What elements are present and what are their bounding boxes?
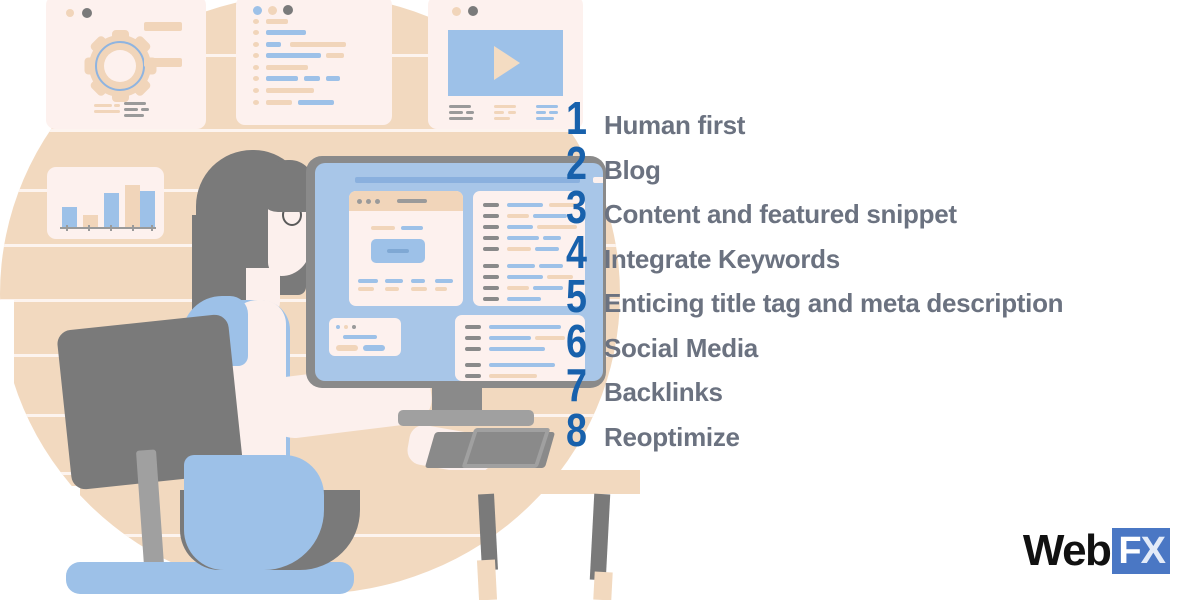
list-item[interactable]: 4 Integrate Keywords <box>566 230 1186 275</box>
logo-fx-x: X <box>1141 531 1165 571</box>
gear-icon <box>90 36 150 96</box>
code-line <box>507 297 541 301</box>
logo-fx-f: F <box>1118 531 1140 571</box>
code-label <box>483 264 499 268</box>
code-bullet <box>253 65 259 70</box>
card-line <box>114 104 120 107</box>
card-bar <box>144 58 182 67</box>
monitor-stand-base <box>398 410 534 426</box>
panel-line <box>435 287 447 291</box>
code-line <box>507 214 529 218</box>
code-line <box>533 286 563 290</box>
list-item-label: Content and featured snippet <box>604 199 957 229</box>
logo-fx-badge: FX <box>1112 528 1170 574</box>
code-line <box>507 286 529 290</box>
desk-leg <box>590 494 610 581</box>
window-dot-icon <box>375 199 380 204</box>
code-label <box>483 214 499 218</box>
code-line <box>507 203 543 207</box>
monitor-screen <box>315 163 603 381</box>
code-line <box>507 236 539 240</box>
list-item[interactable]: 7 Backlinks <box>566 363 1186 408</box>
code-line <box>489 374 537 378</box>
chart-bar <box>125 185 140 227</box>
window-dot-icon <box>366 199 371 204</box>
list-item-number: 6 <box>566 319 599 363</box>
code-line <box>266 42 281 47</box>
list-item-label: Social Media <box>604 333 758 363</box>
window-dot-icon <box>336 325 340 329</box>
card-line <box>536 117 554 120</box>
code-line <box>507 225 533 229</box>
window-dot-icon <box>468 6 478 16</box>
desk-leg-foot <box>593 572 612 600</box>
widget-chip <box>363 345 385 351</box>
card-line <box>449 105 471 108</box>
code-line <box>266 100 292 105</box>
card-line <box>549 111 558 114</box>
window-dot-icon <box>357 199 362 204</box>
code-line <box>266 65 308 70</box>
card-line <box>494 111 504 114</box>
code-line <box>489 325 561 329</box>
panel-line <box>358 287 374 291</box>
code-line <box>266 53 321 58</box>
code-line <box>539 264 563 268</box>
card-line <box>124 108 138 111</box>
code-bullet <box>253 42 259 47</box>
card-line <box>124 102 146 105</box>
code-label <box>483 236 499 240</box>
settings-gear-card <box>46 0 206 129</box>
code-line <box>489 336 531 340</box>
list-item-label: Reoptimize <box>604 422 740 452</box>
chart-bar <box>62 207 77 227</box>
list-item[interactable]: 3 Content and featured snippet <box>566 185 1186 230</box>
code-line <box>266 88 314 93</box>
background-mask <box>0 300 14 500</box>
logo-wordmark: Web <box>1023 529 1111 573</box>
card-line <box>508 111 516 114</box>
window-dot-icon <box>82 8 92 18</box>
code-line <box>326 76 340 81</box>
code-line <box>489 347 545 351</box>
code-bullet <box>253 30 259 35</box>
list-item-number: 1 <box>566 96 599 140</box>
code-label <box>483 286 499 290</box>
screen-panel-left <box>349 191 463 306</box>
video-player-card <box>428 0 583 129</box>
list-item-label: Integrate Keywords <box>604 244 840 274</box>
window-dot-icon <box>253 6 262 15</box>
list-item-label: Blog <box>604 155 661 185</box>
panel-line <box>371 226 395 230</box>
panel-line <box>385 279 403 283</box>
widget-chip <box>336 345 358 351</box>
list-item-number: 5 <box>566 274 599 318</box>
screen-toolbar-bar <box>355 177 580 183</box>
widget-line <box>343 335 377 339</box>
list-item[interactable]: 8 Reoptimize <box>566 408 1186 453</box>
chart-tick <box>66 225 68 231</box>
card-line <box>494 105 516 108</box>
code-list-card <box>236 0 392 125</box>
code-bullet <box>253 19 259 24</box>
card-line <box>141 108 149 111</box>
list-item[interactable]: 2 Blog <box>566 141 1186 186</box>
panel-button <box>371 239 425 263</box>
code-line <box>507 275 543 279</box>
list-item-label: Human first <box>604 110 745 140</box>
chart-axis <box>60 227 156 229</box>
chart-tick <box>88 225 90 231</box>
panel-line <box>401 226 423 230</box>
bar-chart-card <box>47 167 164 239</box>
code-line <box>298 100 334 105</box>
panel-line <box>411 279 425 283</box>
chart-tick <box>132 225 134 231</box>
card-line <box>124 114 144 117</box>
list-item-label: Backlinks <box>604 377 723 407</box>
laptop-screen <box>462 428 551 468</box>
list-item-number: 4 <box>566 230 599 274</box>
card-line <box>449 117 473 120</box>
card-line <box>536 105 558 108</box>
list-item[interactable]: 6 Social Media <box>566 319 1186 364</box>
chart-tick <box>151 225 153 231</box>
window-dot-icon <box>344 325 348 329</box>
monitor-stand-neck <box>432 388 482 412</box>
code-bullet <box>253 76 259 81</box>
window-dot-icon <box>352 325 356 329</box>
background-stripe <box>0 129 620 132</box>
code-line <box>266 19 288 24</box>
code-line <box>507 247 531 251</box>
chart-bar <box>104 193 119 227</box>
code-line <box>290 42 346 47</box>
card-line <box>449 111 463 114</box>
webfx-logo[interactable]: Web FX <box>1023 528 1170 574</box>
code-line <box>266 76 298 81</box>
panel-line <box>358 279 378 283</box>
code-bullet <box>253 53 259 58</box>
desk-leg-foot <box>477 560 497 600</box>
code-bullet <box>253 88 259 93</box>
card-line <box>466 111 474 114</box>
card-line <box>494 117 510 120</box>
list-item[interactable]: 5 Enticing title tag and meta descriptio… <box>566 274 1186 319</box>
panel-line <box>411 287 427 291</box>
screen-widget <box>329 318 401 356</box>
code-line <box>543 236 561 240</box>
code-label <box>483 297 499 301</box>
video-thumbnail <box>448 30 563 96</box>
code-label <box>483 225 499 229</box>
code-line <box>489 363 555 367</box>
card-line <box>94 104 112 107</box>
code-bullet <box>253 100 259 105</box>
list-item-number: 3 <box>566 185 599 229</box>
code-label <box>465 363 481 367</box>
card-line <box>536 111 546 114</box>
panel-line <box>435 279 453 283</box>
code-line <box>535 336 565 340</box>
code-label <box>465 325 481 329</box>
list-item-number: 7 <box>566 363 599 407</box>
code-label <box>483 247 499 251</box>
list-item[interactable]: 1 Human first <box>566 96 1186 141</box>
list-item-number: 8 <box>566 408 599 452</box>
code-label <box>483 275 499 279</box>
chart-bar <box>83 215 98 227</box>
window-dot-icon <box>268 6 277 15</box>
infographic-canvas: 1 Human first 2 Blog 3 Content and featu… <box>0 0 1200 600</box>
window-dot-icon <box>66 9 74 17</box>
code-line <box>304 76 320 81</box>
code-label <box>483 203 499 207</box>
code-line <box>326 53 344 58</box>
code-line <box>533 214 567 218</box>
chart-tick <box>110 225 112 231</box>
code-line <box>535 247 559 251</box>
panel-title-bar <box>397 199 427 203</box>
panel-button-label <box>387 249 409 253</box>
code-line <box>266 30 306 35</box>
code-label <box>465 347 481 351</box>
play-icon <box>494 46 520 80</box>
seo-checklist: 1 Human first 2 Blog 3 Content and featu… <box>566 96 1186 452</box>
code-line <box>507 264 535 268</box>
card-line <box>94 110 120 113</box>
window-dot-icon <box>452 7 461 16</box>
list-item-label: Enticing title tag and meta description <box>604 288 1063 318</box>
code-label <box>465 336 481 340</box>
code-label <box>465 374 481 378</box>
list-item-number: 2 <box>566 141 599 185</box>
panel-line <box>385 287 399 291</box>
person-legs-cover <box>184 455 324 570</box>
chart-bar <box>140 191 155 227</box>
window-dot-icon <box>283 5 293 15</box>
card-bar <box>144 22 182 31</box>
